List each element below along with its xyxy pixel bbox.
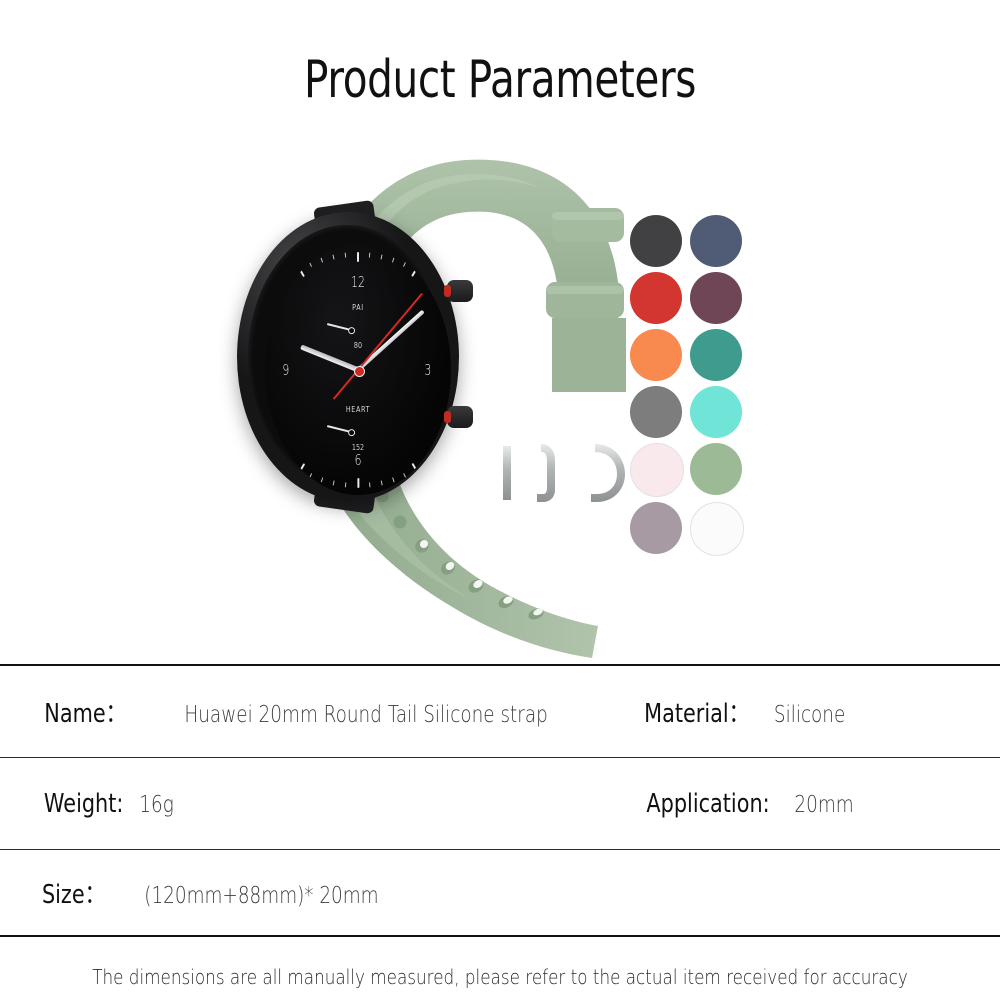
spec-cell-application: Application: 20mm — [631, 789, 861, 819]
spec-cell-weight: Weight: 16g — [34, 789, 178, 819]
hour-hand — [300, 344, 359, 372]
watch-tick-minor — [403, 473, 406, 478]
color-swatch-gray[interactable] — [630, 386, 682, 438]
watch-crown-top — [447, 280, 473, 302]
watch-tick-minor — [381, 480, 383, 485]
spec-table: Name： Huawei 20mm Round Tail Silicone st… — [0, 664, 1000, 989]
watch-tick-minor — [309, 262, 312, 267]
color-swatch-teal[interactable] — [690, 329, 742, 381]
hand-center-pin — [354, 366, 365, 377]
watch-button-bottom — [447, 406, 473, 428]
watch-numeral-6: 6 — [355, 451, 362, 469]
watch-tick-minor — [433, 454, 437, 459]
product-image: 12 3 6 9 PAI 80 HEART 152 — [0, 130, 1000, 600]
color-swatch-charcoal-black[interactable] — [630, 215, 682, 267]
watch-tick-minor — [403, 262, 406, 267]
spec-cell-material: Material： Silicone — [631, 693, 854, 730]
page-title: Product Parameters — [110, 50, 890, 110]
subdial-hand-pai — [327, 323, 353, 331]
watch-case: 12 3 6 9 PAI 80 HEART 152 — [237, 212, 459, 502]
watch-tick-major — [357, 478, 359, 488]
watch-tick-minor — [345, 253, 347, 258]
spec-value-weight: 16g — [140, 792, 174, 818]
watch-tick-minor — [333, 254, 335, 259]
spec-label-application: Application: — [646, 789, 769, 819]
watch-tick-major — [298, 267, 305, 277]
color-swatch-sage-green[interactable] — [690, 443, 742, 495]
watch-tick-minor — [392, 258, 395, 263]
subdial-label-pai: PAI — [352, 303, 364, 312]
watch-tick-minor — [369, 253, 371, 258]
watch-tick-minor — [279, 454, 283, 459]
color-swatch-pale-pink[interactable] — [630, 443, 684, 497]
spec-value-size: (120mm+88mm)* 20mm — [145, 883, 379, 909]
watch-tick-minor — [279, 282, 283, 287]
watch-tick-minor — [288, 274, 292, 279]
second-hand — [357, 293, 423, 371]
spec-value-name: Huawei 20mm Round Tail Silicone strap — [184, 702, 547, 728]
color-swatch-turquoise[interactable] — [690, 386, 742, 438]
watch-tick-minor — [369, 482, 371, 487]
watch-tick-major — [411, 267, 418, 277]
watch-tick-minor — [288, 461, 292, 466]
watch-tick-minor — [424, 461, 428, 466]
spec-label-material: Material： — [644, 693, 749, 730]
watch-bezel: 12 3 6 9 PAI 80 HEART 152 — [248, 225, 446, 489]
spec-value-application: 20mm — [794, 792, 853, 818]
smartwatch: 12 3 6 9 PAI 80 HEART 152 — [237, 212, 472, 502]
table-row: Name： Huawei 20mm Round Tail Silicone st… — [0, 666, 1000, 757]
watch-buckle — [497, 440, 627, 506]
color-swatch-mauve[interactable] — [630, 502, 682, 554]
spec-cell-name: Name： Huawei 20mm Round Tail Silicone st… — [34, 693, 593, 730]
watch-numeral-12: 12 — [351, 273, 365, 291]
subdial-value-pai: 80 — [354, 341, 362, 350]
watch-tick-minor — [381, 254, 383, 259]
watch-tick-minor — [449, 436, 451, 440]
watch-tick-minor — [270, 291, 275, 295]
spec-label-weight: Weight: — [44, 789, 123, 819]
watch-tick-minor — [265, 436, 267, 440]
watch-tick-minor — [442, 445, 447, 449]
watch-tick-minor — [309, 473, 312, 478]
spec-label-size: Size： — [42, 874, 106, 911]
watch-screen: 12 3 6 9 PAI 80 HEART 152 — [265, 245, 451, 495]
color-swatch-white[interactable] — [690, 502, 744, 556]
minute-hand — [357, 310, 425, 372]
watch-tick-minor — [265, 300, 267, 304]
measurement-note: The dimensions are all manually measured… — [80, 937, 920, 989]
table-row: Weight: 16g Application: 20mm — [0, 758, 1000, 849]
watch-tick-minor — [392, 477, 395, 482]
color-swatch-slate-blue[interactable] — [690, 215, 742, 267]
subdial-label-heart: HEART — [346, 405, 370, 414]
watch-tick-minor — [333, 480, 335, 485]
subdial-value-heart: 152 — [352, 443, 364, 452]
color-swatch-red[interactable] — [630, 272, 682, 324]
watch-numeral-3: 3 — [425, 361, 432, 379]
watch-tick-minor — [345, 482, 347, 487]
watch-tick-minor — [433, 282, 437, 287]
spec-label-name: Name： — [44, 693, 126, 730]
watch-tick-major — [411, 463, 418, 473]
table-row: Size： (120mm+88mm)* 20mm — [0, 850, 1000, 935]
spec-value-material: Silicone — [774, 702, 845, 728]
color-swatch-plum-maroon[interactable] — [690, 272, 742, 324]
watch-tick-major — [357, 252, 359, 262]
watch-tick-minor — [321, 477, 324, 482]
subdial-hand-heart — [327, 425, 353, 433]
watch-tick-major — [298, 463, 305, 473]
watch-tick-minor — [321, 258, 324, 263]
watch-numeral-9: 9 — [282, 361, 289, 379]
watch-tick-minor — [424, 274, 428, 279]
color-swatch-orange[interactable] — [630, 329, 682, 381]
watch-tick-minor — [270, 445, 275, 449]
spec-cell-size: Size： (120mm+88mm)* 20mm — [34, 874, 408, 911]
color-swatch-grid[interactable] — [630, 215, 742, 556]
